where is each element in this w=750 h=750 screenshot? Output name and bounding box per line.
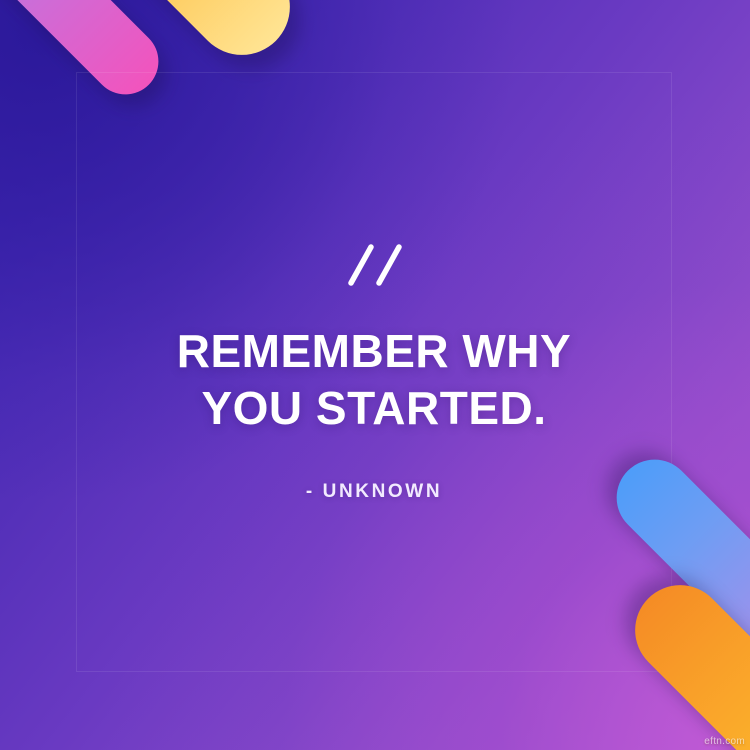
quote-content: REMEMBER WHY YOU STARTED. - UNKNOWN (76, 72, 672, 672)
double-slash-quote-icon (339, 241, 409, 289)
quote-poster: REMEMBER WHY YOU STARTED. - UNKNOWN eftn… (0, 0, 750, 750)
quote-attribution: - UNKNOWN (306, 481, 442, 503)
watermark: eftn.com (704, 736, 745, 747)
quote-headline: REMEMBER WHY YOU STARTED. (177, 323, 571, 437)
